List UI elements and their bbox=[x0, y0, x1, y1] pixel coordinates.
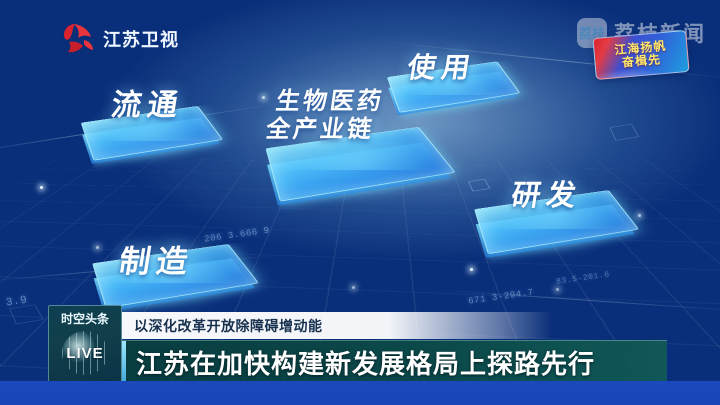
globe-live-icon: LIVE bbox=[54, 329, 116, 377]
background-spark bbox=[352, 286, 355, 289]
channel-logo-text: 江苏卫视 bbox=[103, 26, 179, 52]
program-badge: 时空头条 LIVE bbox=[48, 305, 122, 383]
label-node-shiyong: 使用 bbox=[405, 46, 479, 86]
background-spark bbox=[262, 96, 265, 99]
jiangsu-tv-flame-icon bbox=[60, 22, 96, 56]
subtitle-text: 以深化改革开放除障碍增动能 bbox=[134, 316, 323, 336]
headline-accent-bar bbox=[122, 341, 126, 383]
program-badge-title: 时空头条 bbox=[61, 310, 109, 327]
label-node-zhizao: 制造 bbox=[116, 236, 197, 281]
broadcast-screen: 206 3.666 9 671 3-294.7 3.9 83.5-201.6 流… bbox=[0, 0, 720, 405]
background-spark bbox=[638, 214, 641, 217]
channel-logo: 江苏卫视 bbox=[60, 22, 179, 56]
headline-bar: 江苏在加快构建新发展格局上探路先行 bbox=[122, 340, 667, 383]
graphic-center-title: 生物医药 全产业链 bbox=[270, 88, 386, 145]
center-title-line-1: 生物医药 bbox=[274, 88, 386, 116]
subtitle-bar: 以深化改革开放除障碍增动能 bbox=[122, 312, 552, 339]
label-node-yanfa: 研发 bbox=[509, 172, 586, 214]
center-title-line-2: 全产业链 bbox=[264, 116, 382, 144]
headline-text: 江苏在加快构建新发展格局上探路先行 bbox=[136, 344, 595, 381]
campaign-badge: 江海扬帆 奋楫先 bbox=[592, 30, 689, 80]
background-spark bbox=[40, 186, 43, 189]
label-node-liutong: 流通 bbox=[109, 80, 188, 124]
bottom-safe-area bbox=[0, 381, 720, 405]
live-label: LIVE bbox=[66, 345, 103, 362]
lower-third: 时空头条 LIVE 以深化改革开放除障碍增动能 江苏在加快构建新发展格局上探路先… bbox=[0, 305, 720, 383]
background-spark bbox=[556, 288, 559, 291]
